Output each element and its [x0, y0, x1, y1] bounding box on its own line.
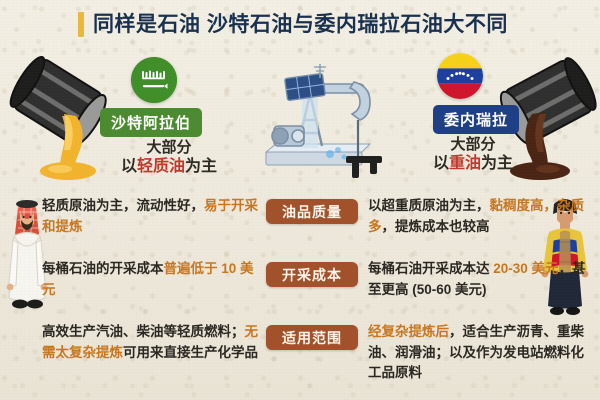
title-text: 同样是石油 沙特石油与委内瑞拉石油大不同 — [93, 14, 508, 35]
text-segment-0: 轻质原油为主，流动性好， — [42, 198, 204, 213]
page-title: 同样是石油 沙特石油与委内瑞拉石油大不同 — [78, 12, 508, 37]
venezuela-flag-icon — [437, 53, 483, 99]
text-segment-0: 以超重质原油为主， — [368, 198, 490, 213]
subtitle-line1-saudi: 大部分 — [94, 138, 244, 157]
text-segment-0: 经复杂提炼后 — [368, 324, 449, 339]
country-subtitle-saudi: 大部分 以轻质油为主 — [94, 138, 244, 178]
comparison-text-left-row-1: 每桶石油的开采成本普遍低于 10 美元 — [42, 259, 260, 300]
oil-barrel-light-icon — [4, 56, 108, 187]
subtitle-suffix-saudi: 为主 — [185, 158, 217, 175]
subtitle-suffix-venezuela: 为主 — [481, 155, 513, 172]
text-segment-0: 每桶石油的开采成本 — [42, 261, 164, 276]
comparison-text-right-row-0: 以超重质原油为主，黏稠度高，杂质多，提炼成本也较高 — [368, 196, 593, 237]
comparison-text-right-row-1: 每桶石油开采成本达 20-30 美元，甚至更高 (50-60 美元) — [368, 259, 593, 300]
country-subtitle-venezuela: 大部分 以重油为主 — [398, 135, 548, 175]
text-segment-0: 高效生产汽油、柴油等轻质燃料； — [42, 324, 245, 339]
saudi-arabia-flag-icon — [131, 57, 177, 103]
subtitle-highlight-venezuela: 重油 — [449, 155, 481, 172]
country-pill-venezuela: 委内瑞拉 — [433, 105, 519, 134]
subtitle-prefix-saudi: 以 — [121, 158, 137, 175]
text-segment-1: 20-30 美元 — [493, 261, 558, 276]
infographic-poster: 同样是石油 沙特石油与委内瑞拉石油大不同 — [0, 0, 600, 400]
oil-pumpjack-icon — [258, 58, 390, 191]
category-badge-oil-quality: 油品质量 — [266, 199, 358, 224]
subtitle-prefix-venezuela: 以 — [433, 155, 449, 172]
subtitle-highlight-saudi: 轻质油 — [137, 158, 185, 175]
title-accent-bar — [78, 12, 84, 37]
text-segment-2: ，提炼成本也较高 — [382, 219, 490, 234]
comparison-text-left-row-0: 轻质原油为主，流动性好，易于开采和提炼 — [42, 196, 260, 237]
text-segment-0: 每桶石油开采成本达 — [368, 261, 493, 276]
comparison-text-right-row-2: 经复杂提炼后，适合生产沥青、重柴油、润滑油；以及作为发电站燃料化工品原料 — [368, 322, 593, 384]
country-pill-saudi: 沙特阿拉伯 — [100, 108, 202, 137]
text-segment-2: 可用来直接生产化学品 — [123, 345, 258, 360]
subtitle-line1-venezuela: 大部分 — [398, 135, 548, 154]
comparison-text-left-row-2: 高效生产汽油、柴油等轻质燃料；无需太复杂提炼可用来直接生产化学品 — [42, 322, 260, 363]
subtitle-line2-saudi: 以轻质油为主 — [94, 157, 244, 177]
category-badge-extraction-cost: 开采成本 — [266, 262, 358, 287]
category-badge-application-scope: 适用范围 — [266, 325, 358, 350]
subtitle-line2-venezuela: 以重油为主 — [398, 154, 548, 174]
